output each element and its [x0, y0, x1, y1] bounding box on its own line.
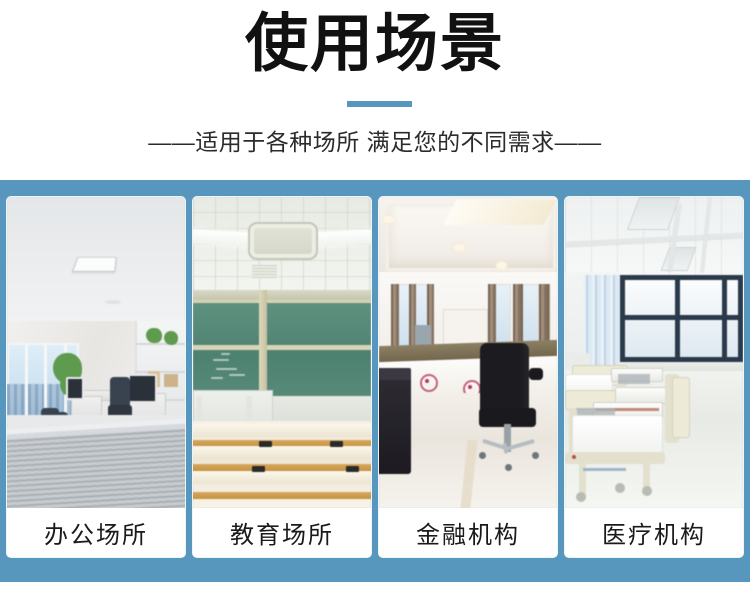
use-cases-page: 使用场景 ——适用于各种场所 满足您的不同需求—— — [0, 0, 750, 590]
scenario-card-medical[interactable]: 医疗机构 — [565, 197, 743, 557]
page-subtitle: ——适用于各种场所 满足您的不同需求—— — [0, 126, 750, 158]
scenario-card-education[interactable]: 教育场所 — [193, 197, 371, 557]
office-photo — [7, 197, 185, 508]
page-title: 使用场景 — [0, 6, 750, 82]
classroom-photo — [193, 197, 371, 508]
scenario-card-list: 办公场所 — [7, 197, 743, 557]
scenario-card-label: 医疗机构 — [565, 508, 743, 557]
title-underline-rule — [347, 101, 412, 107]
scenario-card-label: 金融机构 — [379, 508, 557, 557]
page-header: 使用场景 ——适用于各种场所 满足您的不同需求—— — [0, 0, 750, 180]
scenario-card-label: 办公场所 — [7, 508, 185, 557]
scenario-card-office[interactable]: 办公场所 — [7, 197, 185, 557]
scenario-card-label: 教育场所 — [193, 508, 371, 557]
bank-photo — [379, 197, 557, 508]
hospital-photo — [565, 197, 743, 508]
scenarios-band: 办公场所 — [0, 180, 750, 582]
scenario-card-finance[interactable]: 金融机构 — [379, 197, 557, 557]
